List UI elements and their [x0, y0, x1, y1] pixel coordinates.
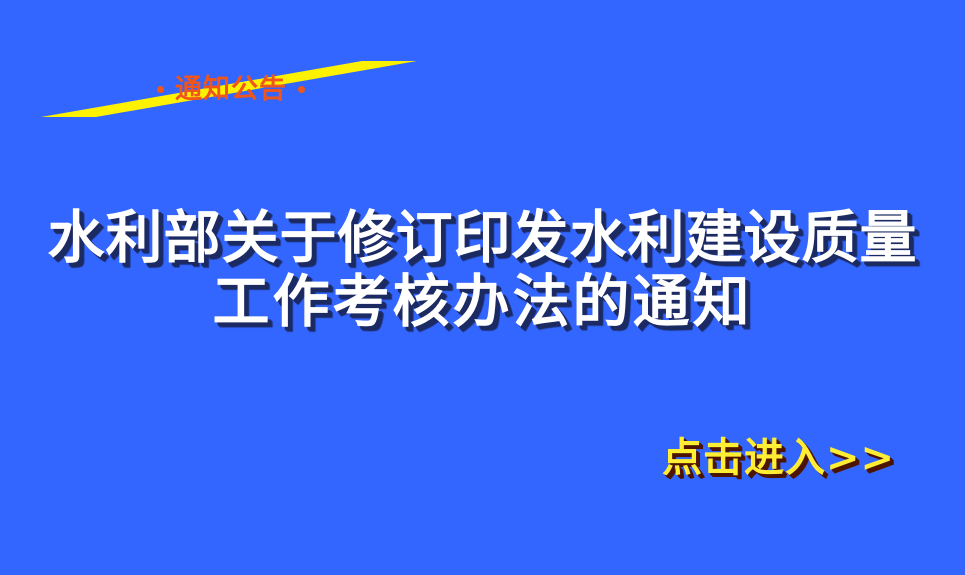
announcement-banner: 通知公告 水利部关于修订印发水利建设质量 工作考核办法的通知 点击进入>> [0, 0, 965, 575]
headline-line-2: 工作考核办法的通知 [0, 270, 965, 334]
ribbon-label-group: 通知公告 [41, 61, 417, 117]
headline: 水利部关于修订印发水利建设质量 工作考核办法的通知 [0, 206, 965, 334]
headline-line-1: 水利部关于修订印发水利建设质量 [0, 206, 965, 270]
enter-link[interactable]: 点击进入>> [662, 434, 895, 482]
ribbon-label-text: 通知公告 [175, 76, 287, 103]
category-ribbon[interactable]: 通知公告 [41, 61, 417, 117]
dot-separator-icon-left [157, 86, 164, 93]
dot-separator-icon-right [298, 86, 305, 93]
